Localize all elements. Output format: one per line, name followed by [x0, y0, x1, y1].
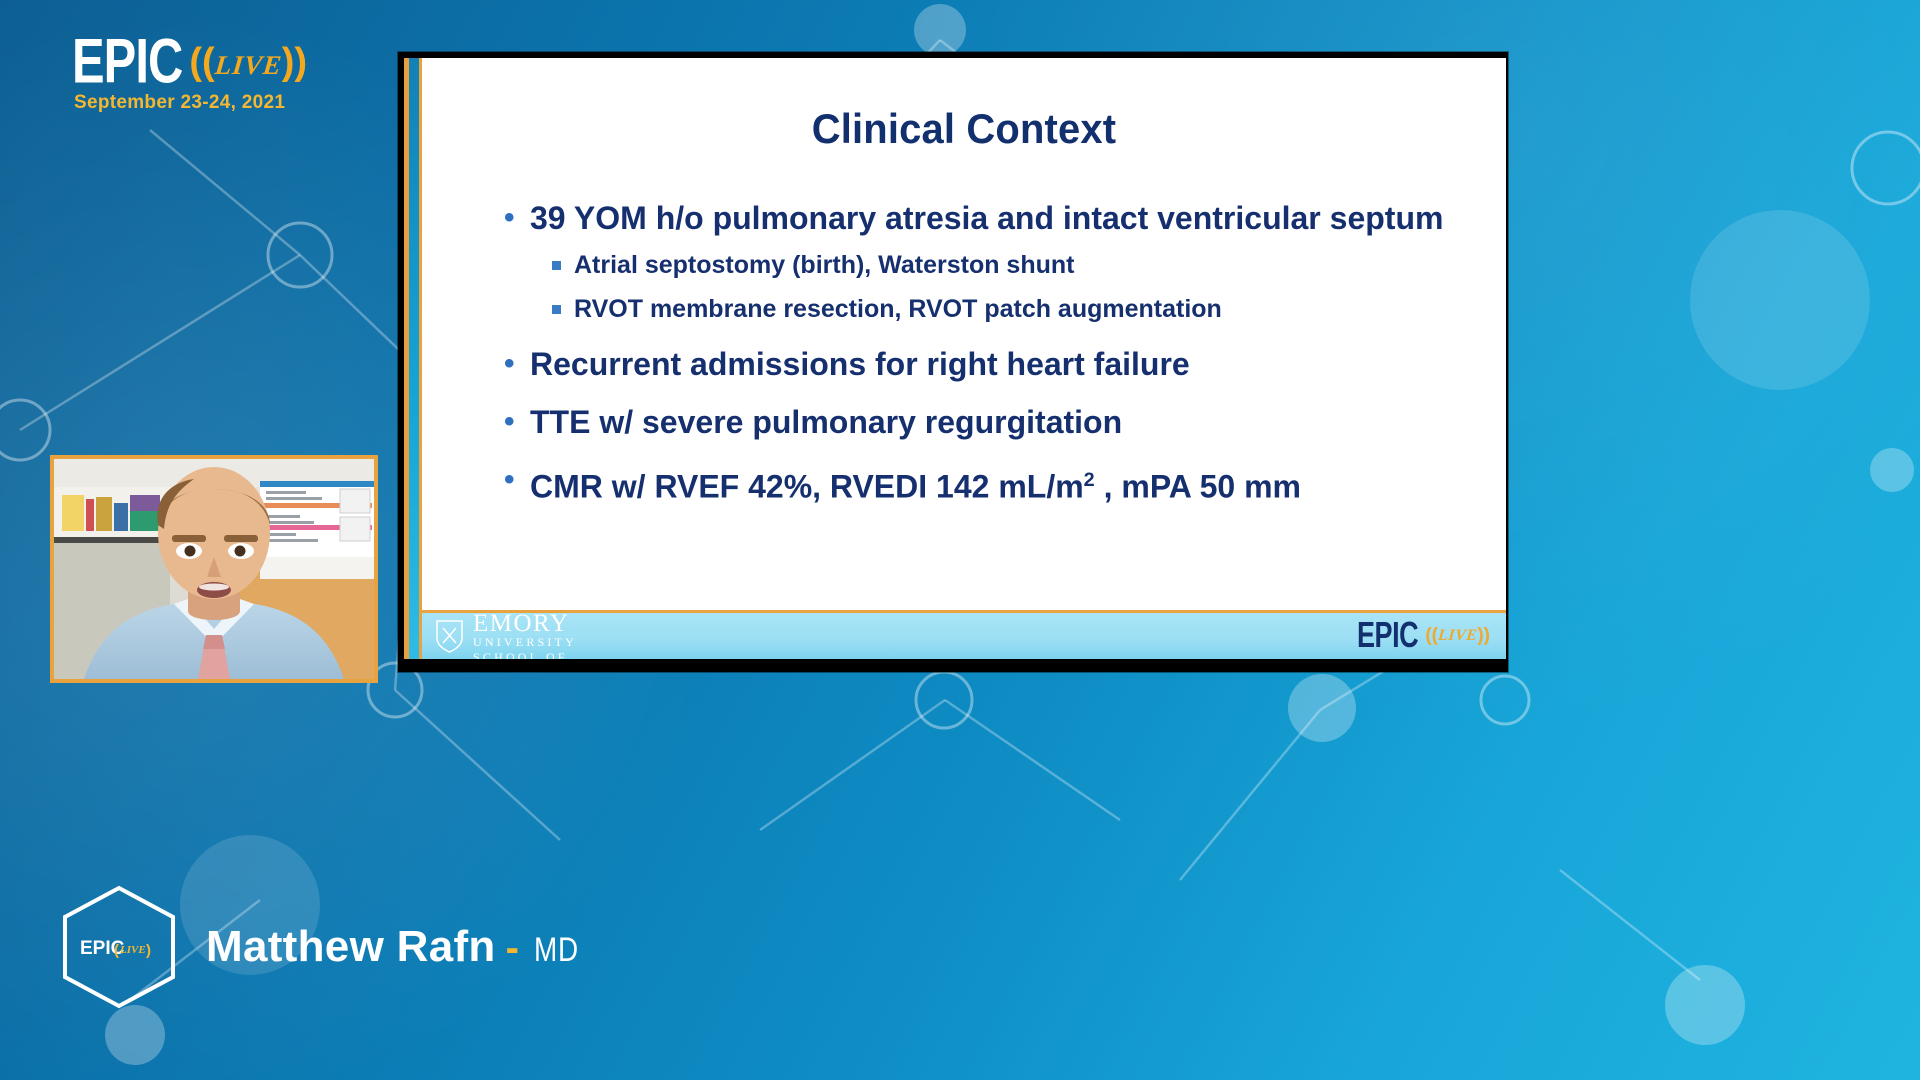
speaker-webcam-tile[interactable]	[50, 455, 378, 683]
epic-wordmark: EPIC	[1357, 616, 1418, 657]
speaker-name: Matthew Rafn	[206, 922, 496, 972]
live-wordmark: LIVE	[1437, 627, 1478, 645]
wave-right-icon: ))	[282, 41, 307, 83]
broadcast-stage: EPIC((LIVE)) September 23-24, 2021 Clini…	[0, 0, 1920, 1080]
emory-line-2: UNIVERSITY	[473, 635, 577, 650]
bullet-square-icon	[552, 261, 561, 270]
epic-wordmark: EPIC	[72, 36, 182, 87]
speaker-credentials: MD	[534, 931, 579, 970]
bullet-text: TTE w/ severe pulmonary regurgitation	[530, 404, 1122, 440]
emory-line-3: SCHOOL OF	[473, 650, 577, 660]
wave-left-icon: ((	[189, 41, 214, 83]
bullet-text: CMR w/ RVEF 42%, RVEDI 142 mL/m	[530, 469, 1084, 505]
slide-inner: Clinical Context • 39 YOM h/o pulmonary …	[404, 58, 1506, 659]
slide-sub-bullet-list: Atrial septostomy (birth), Waterston shu…	[530, 243, 1506, 331]
speaker-identity: Matthew Rafn - MD	[206, 922, 584, 972]
emory-shield-icon	[436, 620, 463, 653]
live-wordmark: LIVE	[213, 50, 283, 81]
slide-title: Clinical Context	[449, 105, 1479, 153]
webcam-video-feed	[54, 459, 374, 679]
wave-right-icon: ))	[1477, 625, 1490, 647]
presentation-slide-frame: Clinical Context • 39 YOM h/o pulmonary …	[398, 52, 1508, 672]
badge-wave-right-icon: )	[146, 942, 151, 959]
badge-live-text: LIVE	[119, 944, 146, 956]
bullet-text-tail: , mPA 50 mm	[1095, 469, 1301, 505]
epic-live-hex-badge: EPIC LIVE ( )	[60, 884, 178, 1010]
bullet-dot-icon: •	[504, 339, 515, 389]
list-item: • CMR w/ RVEF 42%, RVEDI 142 mL/m2 , mPA…	[422, 455, 1506, 512]
bullet-text: Recurrent admissions for right heart fai…	[530, 346, 1190, 382]
sub-bullet-text: Atrial septostomy (birth), Waterston shu…	[574, 251, 1074, 279]
badge-wave-left-icon: (	[114, 942, 119, 959]
bullet-dot-icon: •	[504, 397, 515, 447]
epic-live-footer-logo: EPIC((LIVE))	[1357, 619, 1490, 653]
bullet-square-icon	[552, 305, 561, 314]
bullet-superscript: 2	[1084, 469, 1095, 491]
bullet-dot-icon: •	[504, 193, 515, 243]
speaker-name-bar: EPIC LIVE ( ) Matthew Rafn - MD	[60, 884, 584, 1010]
list-item: • TTE w/ severe pulmonary regurgitation	[422, 397, 1506, 447]
list-item: RVOT membrane resection, RVOT patch augm…	[530, 287, 1506, 331]
list-item: • Recurrent admissions for right heart f…	[422, 339, 1506, 389]
bullet-dot-icon: •	[504, 455, 515, 505]
bullet-text: 39 YOM h/o pulmonary atresia and intact …	[530, 200, 1443, 236]
sub-bullet-text: RVOT membrane resection, RVOT patch augm…	[574, 295, 1222, 323]
list-item: • 39 YOM h/o pulmonary atresia and intac…	[422, 193, 1506, 331]
emory-logo: EMORY UNIVERSITY SCHOOL OF	[436, 610, 577, 659]
slide-footer-band: EMORY UNIVERSITY SCHOOL OF EPIC((LIVE))	[422, 610, 1506, 659]
slide-bullet-list: • 39 YOM h/o pulmonary atresia and intac…	[422, 193, 1506, 512]
epic-live-header-logo: EPIC((LIVE))	[72, 36, 372, 132]
emory-line-1: EMORY	[473, 612, 577, 635]
speaker-separator: -	[506, 926, 519, 971]
slide-left-accent-bar	[409, 58, 419, 659]
emory-wordmark: EMORY UNIVERSITY SCHOOL OF	[473, 612, 577, 660]
event-date: September 23-24, 2021	[74, 92, 285, 114]
slide-content-area: Clinical Context • 39 YOM h/o pulmonary …	[422, 58, 1506, 613]
list-item: Atrial septostomy (birth), Waterston shu…	[530, 243, 1506, 287]
